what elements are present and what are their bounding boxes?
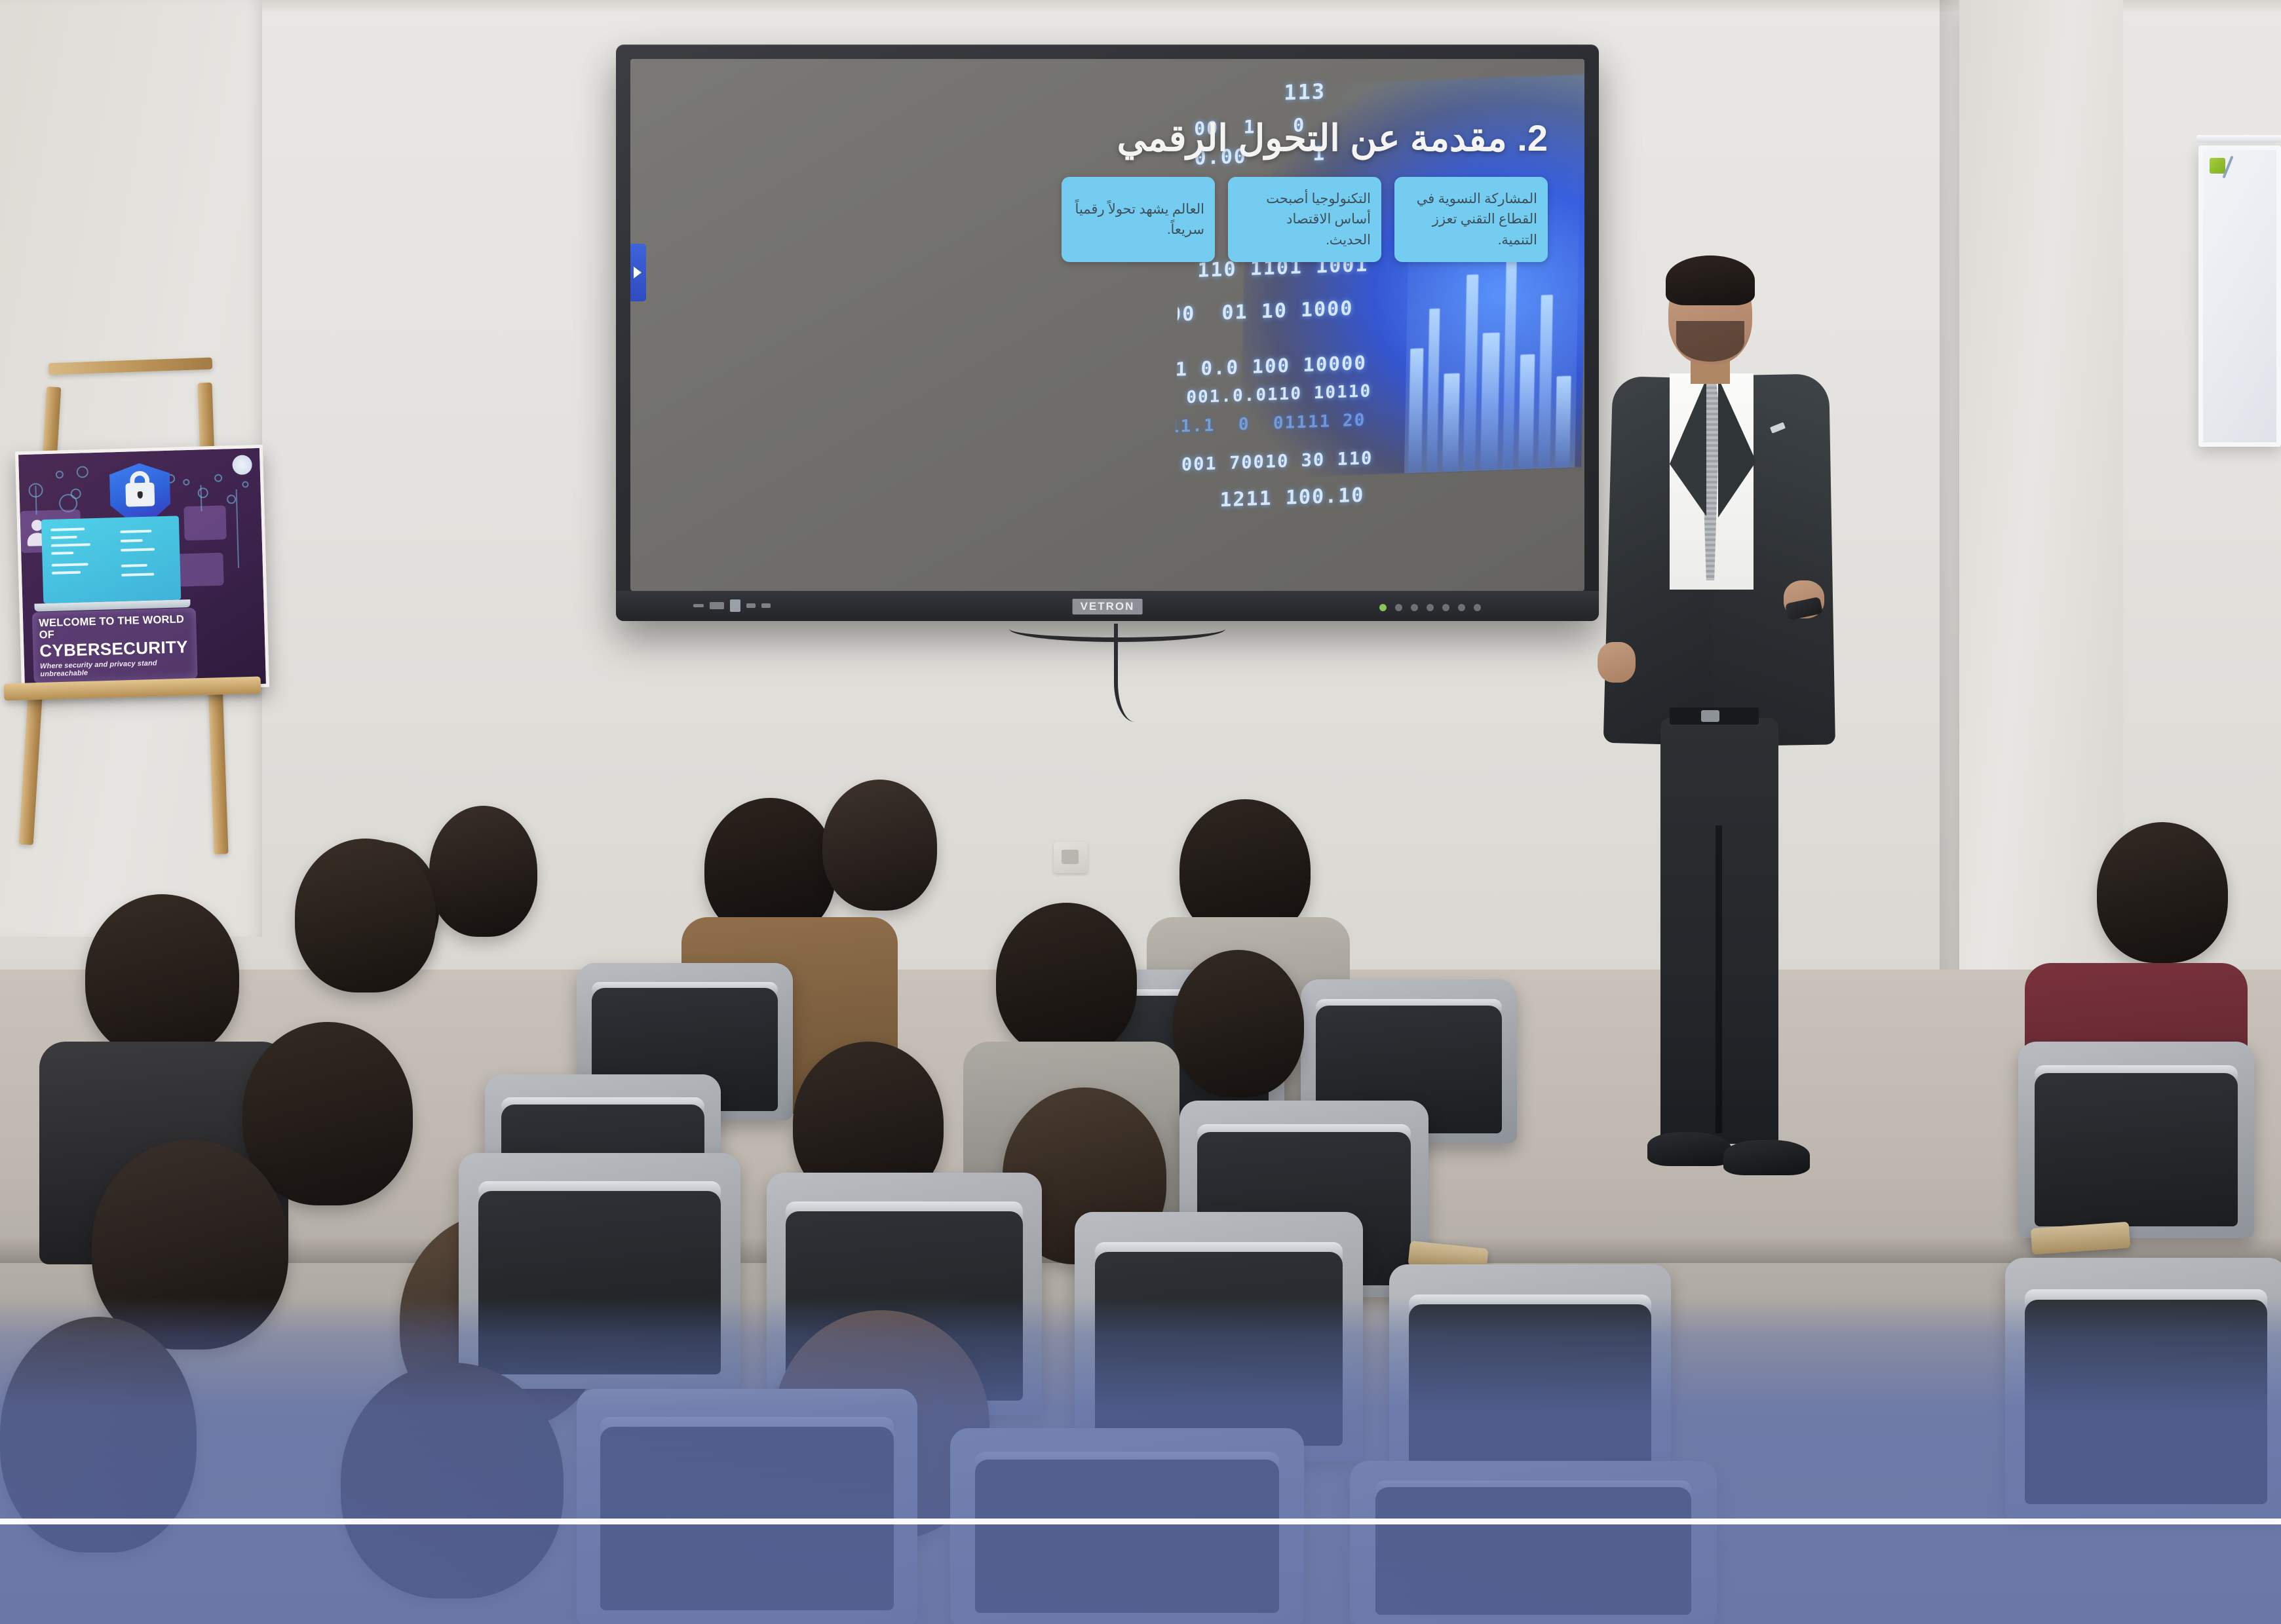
- slide-card-text: المشاركة النسوية في القطاع التقني تعزز ا…: [1405, 189, 1537, 251]
- audience-head: [1173, 950, 1304, 1097]
- presenter-shoe-right: [1723, 1140, 1810, 1175]
- wall-socket: [1054, 842, 1088, 873]
- binary-row: 113: [1284, 79, 1326, 105]
- audience-head: [429, 806, 537, 937]
- presentation-display[interactable]: 113 00 1 0 0.00 1 101 .2.0,0 00 113 6 0 …: [616, 45, 1599, 621]
- display-control-buttons[interactable]: [1379, 604, 1481, 611]
- display-screen: 113 00 1 0 0.00 1 101 .2.0,0 00 113 6 0 …: [630, 59, 1584, 591]
- presenter-shoe-left: [1647, 1132, 1731, 1166]
- display-cable-drop: [1114, 624, 1166, 722]
- poster-headline-banner: WELCOME TO THE WORLD OF CYBERSECURITY Wh…: [32, 608, 198, 684]
- poster-laptop-icon: [41, 516, 181, 603]
- footer-divider-rule: [0, 1519, 2281, 1524]
- slide-next-arrow-icon[interactable]: [630, 244, 646, 301]
- audience-head: [996, 903, 1137, 1057]
- seat[interactable]: [2018, 1042, 2254, 1238]
- presenter: [1592, 249, 1868, 1245]
- poster-headline-main: CYBERSECURITY: [39, 638, 191, 660]
- presenter-leg-separation: [1716, 825, 1722, 1133]
- audience-head: [85, 894, 239, 1058]
- right-wall-column: [1959, 0, 2123, 996]
- audience-head: [242, 1022, 413, 1205]
- slide-card: التكنولوجيا أصبحت أساس الاقتصاد الحديث.: [1228, 177, 1381, 262]
- display-brand-logo: VETRON: [1073, 599, 1143, 614]
- slide-card-text: العالم يشهد تحولاً رقمياً سريعاً.: [1072, 199, 1204, 240]
- display-ports: [693, 599, 771, 612]
- slide-card: العالم يشهد تحولاً رقمياً سريعاً.: [1062, 177, 1215, 262]
- poster-node: [177, 553, 223, 587]
- audience-head: [295, 839, 436, 992]
- binary-row: 1211 100.10: [1219, 484, 1365, 512]
- slide-cards: المشاركة النسوية في القطاع التقني تعزز ا…: [1062, 177, 1548, 262]
- slide-card-text: التكنولوجيا أصبحت أساس الاقتصاد الحديث.: [1238, 189, 1371, 251]
- poster-university-logo: [232, 455, 252, 475]
- poster-lock-icon: [125, 482, 155, 506]
- footer: جامعة وارث الأنبياء (عليه السلام) كلية ع…: [0, 1297, 2281, 1624]
- audience-head: [822, 780, 937, 911]
- presenter-belt: [1670, 708, 1759, 725]
- presenter-beard: [1676, 321, 1744, 362]
- poster-node: [183, 505, 226, 540]
- slide-title: ‏2. مقدمة عن التحول الرقمي: [1117, 117, 1548, 160]
- whiteboard: [2198, 145, 2281, 447]
- slide-card: المشاركة النسوية في القطاع التقني تعزز ا…: [1394, 177, 1548, 262]
- photo-canvas: 113 00 1 0 0.00 1 101 .2.0,0 00 113 6 0 …: [0, 0, 2281, 1624]
- cybersecurity-poster: WELCOME TO THE WORLD OF CYBERSECURITY Wh…: [15, 445, 269, 694]
- ceiling-edge: [0, 0, 2281, 12]
- slide-surface: 113 00 1 0 0.00 1 101 .2.0,0 00 113 6 0 …: [630, 59, 1584, 591]
- whiteboard-sticker-icon: [2210, 158, 2225, 174]
- poster-link: [236, 489, 239, 568]
- audience-head: [2097, 822, 2228, 963]
- poster-tagline: Where security and privacy stand unbreac…: [40, 658, 191, 678]
- presenter-hair: [1666, 255, 1755, 305]
- presenter-hand-left: [1598, 642, 1636, 683]
- whiteboard-tray: [2196, 135, 2281, 143]
- poster-easel: WELCOME TO THE WORLD OF CYBERSECURITY Wh…: [9, 367, 284, 865]
